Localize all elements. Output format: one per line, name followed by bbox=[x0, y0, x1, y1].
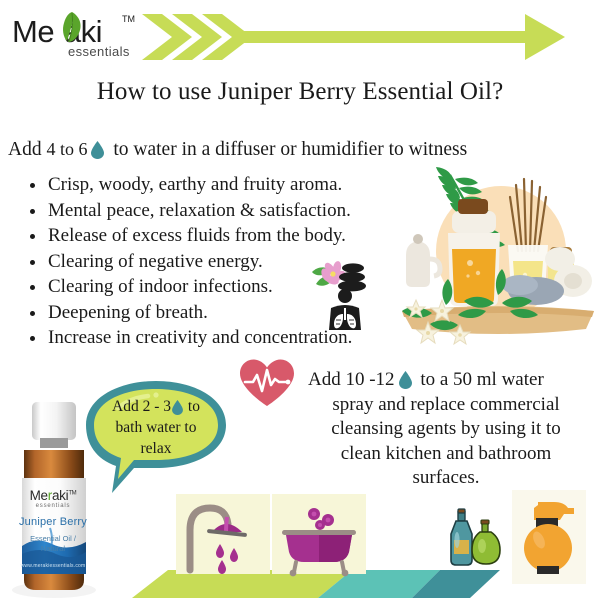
spray-line-4: clean kitchen and bathroom bbox=[300, 442, 592, 467]
brand-logo: Meraki TM essentials bbox=[12, 8, 142, 64]
bubble-line-1: Add 2 - 3 to bbox=[112, 398, 200, 415]
list-item: Deepening of breath. bbox=[26, 300, 356, 326]
list-item: Clearing of negative energy. bbox=[26, 249, 356, 275]
bath-tip-text: Add 2 - 3 to bath water to relax bbox=[92, 396, 220, 459]
list-item: Mental peace, relaxation & satisfaction. bbox=[26, 198, 356, 224]
trademark-mark: TM bbox=[122, 14, 135, 24]
brand-logo-subtitle: essentials bbox=[68, 44, 130, 59]
list-item: Increase in creativity and concentration… bbox=[26, 325, 356, 351]
product-url: www.merakiessentials.com bbox=[16, 563, 90, 569]
list-item: Crisp, woody, earthy and fruity aroma. bbox=[26, 172, 356, 198]
water-drop-icon bbox=[399, 371, 412, 389]
infographic-poster: Meraki TM essentials How to use Juniper … bbox=[0, 0, 600, 600]
bubble-line-2: bath water to bbox=[116, 419, 197, 436]
product-brand-subtitle: essentials bbox=[16, 503, 90, 509]
product-type: Essential Oil /Natural bbox=[16, 534, 90, 554]
lead-prefix: Add bbox=[8, 139, 46, 160]
product-name: Juniper Berry bbox=[16, 516, 90, 528]
spray-line-3: cleansing agents by using it to bbox=[300, 417, 592, 442]
lungs-breathing-icon bbox=[325, 288, 365, 332]
product-brand: MerakiTM bbox=[16, 488, 90, 503]
water-drop-icon bbox=[91, 141, 104, 159]
benefits-list: Crisp, woody, earthy and fruity aroma. M… bbox=[26, 172, 356, 351]
spray-instruction: Add 10 -12 to a 50 ml water spray and re… bbox=[300, 368, 592, 491]
page-title: How to use Juniper Berry Essential Oil? bbox=[0, 78, 600, 106]
spray-line-5: surfaces. bbox=[300, 466, 592, 491]
bathtub-icon bbox=[272, 494, 366, 590]
lead-instruction: Add 4 to 6 to water in a diffuser or hum… bbox=[8, 139, 596, 161]
shower-head-icon bbox=[176, 494, 270, 590]
list-item: Clearing of indoor infections. bbox=[26, 274, 356, 300]
lead-suffix: to water in a diffuser or humidifier to … bbox=[108, 139, 467, 160]
bubble-line-3: relax bbox=[141, 440, 172, 457]
lead-dose: 4 to 6 bbox=[46, 139, 87, 159]
list-item: Release of excess fluids from the body. bbox=[26, 223, 356, 249]
spray-line-2: spray and replace commercial bbox=[300, 393, 592, 418]
spray-bottle-icon bbox=[512, 490, 586, 584]
spa-oils-diffuser-icon bbox=[398, 163, 598, 355]
spray-line-1: Add 10 -12 to a 50 ml water bbox=[300, 368, 592, 393]
heartbeat-icon bbox=[238, 358, 296, 408]
chevron-arrow-icon bbox=[140, 6, 590, 68]
water-drop-icon bbox=[172, 400, 183, 415]
glass-oil-bottles-icon bbox=[446, 508, 510, 570]
leaf-icon bbox=[59, 11, 85, 43]
